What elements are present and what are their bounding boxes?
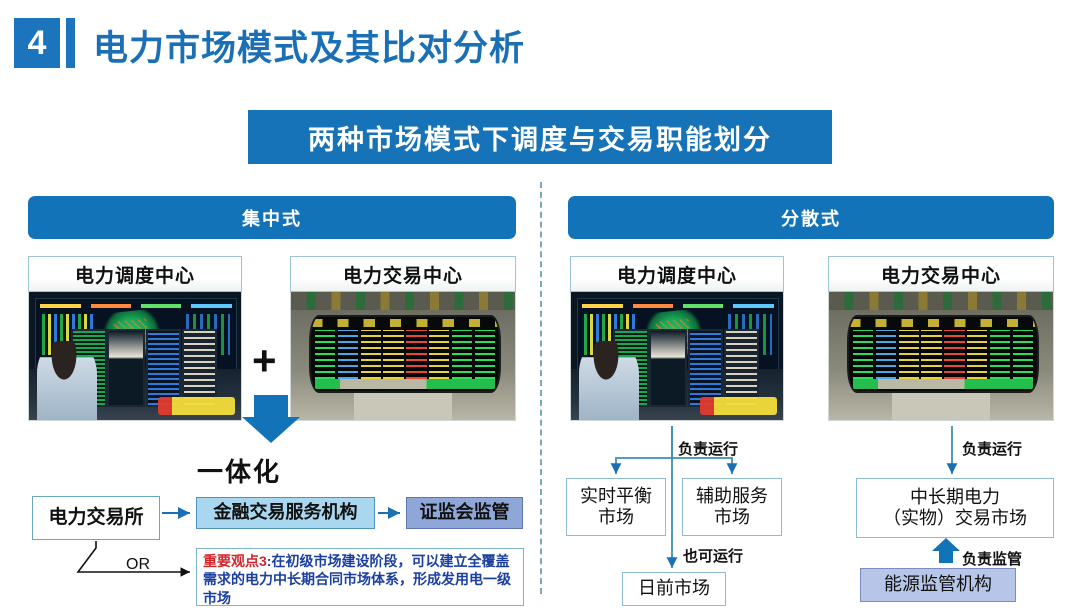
banner-title: 两种市场模式下调度与交易职能划分: [248, 110, 832, 164]
flow-box-ancillary-service[interactable]: 辅助服务市场: [682, 478, 782, 536]
note-line-1: 在初级市场建设阶段，可以建: [271, 553, 453, 569]
header-accent-bar: [66, 18, 75, 68]
box-line-1: 中长期电力: [910, 487, 1000, 507]
note-highlight: 重要观点3: [203, 553, 267, 569]
stock-board-photo: [290, 292, 516, 421]
flow-box-realtime-balance[interactable]: 实时平衡市场: [566, 478, 666, 536]
flow-box-finance-service[interactable]: 金融交易服务机构: [196, 497, 375, 529]
card-dispatch-center-left: 电力调度中心: [28, 256, 242, 421]
card-trading-center-right: 电力交易中心: [828, 256, 1054, 421]
arrow-dispatch-to-realtime: [616, 426, 672, 474]
card-label: 电力交易中心: [828, 256, 1054, 292]
box-line-2: （实物）交易市场: [883, 508, 1027, 528]
flow-box-csrc[interactable]: 证监会监管: [406, 497, 523, 529]
card-label: 电力调度中心: [570, 256, 784, 292]
box-line-2: 市场: [598, 507, 634, 527]
page-title: 电力市场模式及其比对分析: [93, 20, 525, 71]
note-key-point-3: 重要观点3:在初级市场建设阶段，可以建立全覆盖需求的电力中长期合同市场体系，形成…: [196, 548, 524, 606]
label-responsible-run-trading: 负责运行: [962, 438, 1022, 459]
card-label: 电力交易中心: [290, 256, 516, 292]
column-divider: [540, 182, 542, 594]
plus-operator: +: [252, 340, 277, 382]
section-number-badge: 4: [14, 18, 60, 68]
flow-box-energy-regulator[interactable]: 能源监管机构: [860, 568, 1016, 602]
regulator-up-arrow: [932, 538, 960, 563]
box-line-1: 辅助服务: [696, 486, 768, 506]
card-dispatch-center-right: 电力调度中心: [570, 256, 784, 421]
card-label: 电力调度中心: [28, 256, 242, 292]
arrow-dispatch-to-ancillary: [672, 458, 732, 474]
box-line-1: 实时平衡: [580, 486, 652, 506]
box-line-2: 市场: [714, 507, 750, 527]
flow-box-mid-long-term-market[interactable]: 中长期电力（实物）交易市场: [856, 478, 1054, 538]
flow-box-day-ahead-market[interactable]: 日前市场: [622, 572, 726, 606]
section-header-decentralized: 分散式: [568, 196, 1054, 239]
section-header-centralized: 集中式: [28, 196, 516, 239]
or-label: OR: [126, 556, 150, 574]
label-responsible-run-dispatch: 负责运行: [678, 438, 738, 459]
slide-root: 4 电力市场模式及其比对分析 两种市场模式下调度与交易职能划分 集中式 分散式 …: [0, 0, 1080, 608]
stock-board-photo: [828, 292, 1054, 421]
control-room-photo: [570, 292, 784, 421]
flow-box-exchange[interactable]: 电力交易所: [32, 496, 160, 540]
slide-header: 4 电力市场模式及其比对分析: [0, 0, 1080, 86]
label-responsible-regulate: 负责监管: [962, 548, 1022, 569]
card-trading-center-left: 电力交易中心: [290, 256, 516, 421]
integration-label: 一体化: [197, 452, 281, 489]
control-room-photo: [28, 292, 242, 421]
label-also-run: 也可运行: [683, 545, 743, 566]
